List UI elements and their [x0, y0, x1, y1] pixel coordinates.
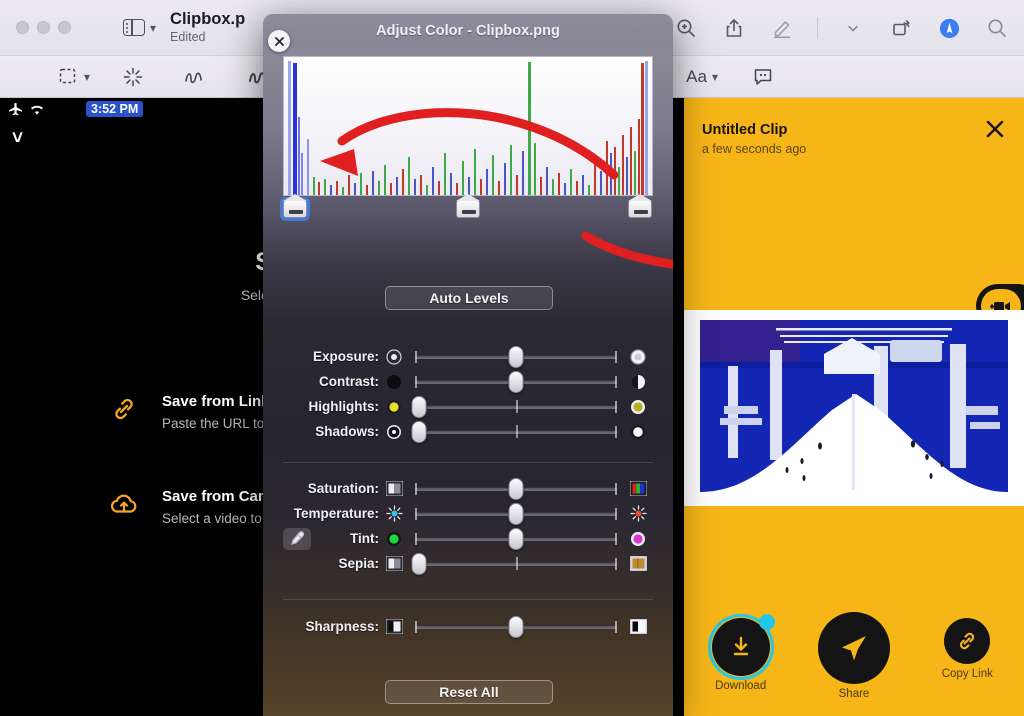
- auto-levels-label: Auto Levels: [429, 290, 508, 306]
- traffic-lights: [16, 21, 71, 34]
- slider-label: Tint:: [315, 531, 379, 546]
- dialog-titlebar: Adjust Color - Clipbox.png: [263, 14, 673, 48]
- slider-label: Saturation:: [283, 481, 379, 496]
- slider-contrast[interactable]: [415, 369, 617, 394]
- slider-label: Highlights:: [283, 399, 379, 414]
- white-dot-icon: [623, 424, 653, 440]
- dark-target-icon: [379, 424, 409, 440]
- histogram[interactable]: [283, 56, 653, 196]
- slider-label: Sepia:: [283, 556, 379, 571]
- slider-thumb[interactable]: [509, 346, 524, 368]
- clip-thumbnail[interactable]: [684, 310, 1024, 506]
- gray-gradient-icon: [379, 481, 409, 496]
- link-icon: [944, 618, 990, 664]
- slider-thumb[interactable]: [412, 553, 427, 575]
- slider-row-contrast: Contrast:: [283, 369, 653, 394]
- slider-row-tint: Tint:: [283, 526, 653, 551]
- soft-square-icon: [379, 619, 409, 634]
- wifi-icon: [29, 103, 45, 116]
- sketch-icon[interactable]: [182, 66, 208, 88]
- dialog-title: Adjust Color - Clipbox.png: [376, 23, 560, 39]
- slider-saturation[interactable]: [415, 476, 617, 501]
- document-title: Clipbox.p Edited: [170, 10, 245, 44]
- warm-sun-icon: [623, 505, 653, 522]
- yellow-dot-icon: [379, 399, 409, 415]
- text-style-label: Aa: [686, 67, 707, 87]
- download-label: Download: [715, 680, 766, 692]
- slider-sharpness[interactable]: [415, 614, 617, 639]
- close-button[interactable]: [16, 21, 29, 34]
- instant-alpha-icon[interactable]: [122, 66, 144, 88]
- slider-row-exposure: Exposure:: [283, 344, 653, 369]
- slider-label: Temperature:: [283, 506, 379, 521]
- slider-label: Shadows:: [283, 424, 379, 439]
- document-status: Edited: [170, 30, 245, 44]
- document-name: Clipbox.p: [170, 10, 245, 29]
- markup-pencil-icon[interactable]: [769, 15, 795, 41]
- link-icon: [108, 393, 140, 425]
- adjust-color-dialog: Adjust Color - Clipbox.png: [263, 14, 673, 716]
- contrast-half-icon: [623, 374, 653, 390]
- aperture-dark-icon: [379, 349, 409, 365]
- rotate-icon[interactable]: [888, 15, 914, 41]
- share-label: Share: [839, 688, 870, 700]
- toolbar-divider: [817, 17, 818, 39]
- clip-actions: Download Share: [684, 618, 1024, 702]
- eyedropper-icon[interactable]: [283, 528, 311, 550]
- slider-thumb[interactable]: [509, 371, 524, 393]
- text-style-icon[interactable]: Aa ▾: [686, 67, 718, 87]
- slider-row-shadows: Shadows:: [283, 419, 653, 444]
- black-point-handle[interactable]: [283, 200, 307, 218]
- sidebar-icon: [123, 19, 145, 36]
- slider-thumb[interactable]: [509, 503, 524, 525]
- slider-row-highlights: Highlights:: [283, 394, 653, 419]
- center-tick: [516, 557, 518, 570]
- slider-label: Sharpness:: [283, 619, 379, 634]
- reset-all-button[interactable]: Reset All: [385, 680, 553, 704]
- search-icon[interactable]: [984, 15, 1010, 41]
- center-tick: [516, 425, 518, 438]
- slider-exposure[interactable]: [415, 344, 617, 369]
- cool-sun-icon: [379, 505, 409, 522]
- circle-filled-icon: [379, 374, 409, 390]
- rgb-bars-icon: [623, 481, 653, 496]
- chevron-down-icon[interactable]: [840, 15, 866, 41]
- selection-tool-icon[interactable]: ▾: [58, 67, 90, 86]
- gray-gradient-icon: [379, 556, 409, 571]
- slider-label: Exposure:: [283, 349, 379, 364]
- green-dot-icon: [379, 531, 409, 547]
- reset-all-label: Reset All: [439, 684, 498, 700]
- mid-point-handle[interactable]: [456, 200, 480, 218]
- chevron-down-icon: ▾: [712, 71, 718, 83]
- slider-thumb[interactable]: [412, 421, 427, 443]
- slider-thumb[interactable]: [509, 616, 524, 638]
- option-title: Save from Link: [162, 393, 270, 410]
- auto-levels-button[interactable]: Auto Levels: [385, 286, 553, 310]
- slider-row-sepia: Sepia:: [283, 551, 653, 576]
- send-icon: [818, 612, 890, 684]
- airplane-mode-icon: [8, 102, 23, 116]
- status-time: 3:52 PM: [86, 101, 143, 117]
- color-group: Saturation: Temperature:: [283, 476, 653, 576]
- slider-thumb[interactable]: [509, 478, 524, 500]
- status-icons: [8, 102, 45, 116]
- clip-timestamp: a few seconds ago: [702, 142, 806, 156]
- slider-temperature[interactable]: [415, 501, 617, 526]
- white-point-handle[interactable]: [628, 200, 652, 218]
- speech-bubble-icon[interactable]: [752, 67, 774, 87]
- zoom-button[interactable]: [58, 21, 71, 34]
- chevron-down-icon: ▾: [84, 71, 90, 83]
- center-tick: [516, 400, 518, 413]
- minimize-button[interactable]: [37, 21, 50, 34]
- copy-link-button[interactable]: Copy Link: [919, 618, 1015, 682]
- annotate-icon[interactable]: [936, 15, 962, 41]
- sepia-swatch-icon: [623, 556, 653, 571]
- clip-header: Untitled Clip a few seconds ago: [702, 122, 806, 156]
- clip-panel: Untitled Clip a few seconds ago: [684, 98, 1024, 716]
- olive-dot-icon: [623, 399, 653, 415]
- chevron-down-icon[interactable]: ˅: [12, 128, 23, 150]
- tone-group: Exposure: Contrast:: [283, 344, 653, 444]
- slider-shadows[interactable]: [415, 419, 617, 444]
- slider-thumb[interactable]: [412, 396, 427, 418]
- status-dot: [759, 614, 775, 630]
- histogram-levels-track: [283, 200, 653, 222]
- sidebar-toggle-button[interactable]: ▾: [123, 19, 156, 36]
- slider-tint[interactable]: [415, 526, 617, 551]
- slider-row-temperature: Temperature:: [283, 501, 653, 526]
- slider-highlights[interactable]: [415, 394, 617, 419]
- clip-title: Untitled Clip: [702, 122, 806, 138]
- slider-row-sharpness: Sharpness:: [283, 614, 653, 639]
- slider-thumb[interactable]: [509, 528, 524, 550]
- magenta-dot-icon: [623, 531, 653, 547]
- group-divider: [283, 599, 653, 600]
- slider-label: Contrast:: [283, 374, 379, 389]
- detail-group: Sharpness:: [283, 614, 653, 639]
- aperture-light-icon: [623, 349, 653, 365]
- zoom-in-icon[interactable]: [673, 15, 699, 41]
- share-button[interactable]: Share: [806, 612, 902, 702]
- titlebar-tools: [673, 0, 1010, 56]
- cloud-upload-icon: [108, 488, 140, 520]
- group-divider: [283, 462, 653, 463]
- copy-link-label: Copy Link: [942, 668, 993, 680]
- download-button[interactable]: Download: [693, 618, 789, 694]
- chevron-down-icon: ▾: [150, 22, 156, 34]
- close-icon[interactable]: [268, 30, 290, 52]
- slider-row-saturation: Saturation:: [283, 476, 653, 501]
- share-icon[interactable]: [721, 15, 747, 41]
- screen: ▾ Clipbox.p Edited: [0, 0, 1024, 716]
- close-icon[interactable]: [982, 116, 1008, 142]
- sharp-square-icon: [623, 619, 653, 634]
- slider-sepia[interactable]: [415, 551, 617, 576]
- download-icon: [712, 618, 770, 676]
